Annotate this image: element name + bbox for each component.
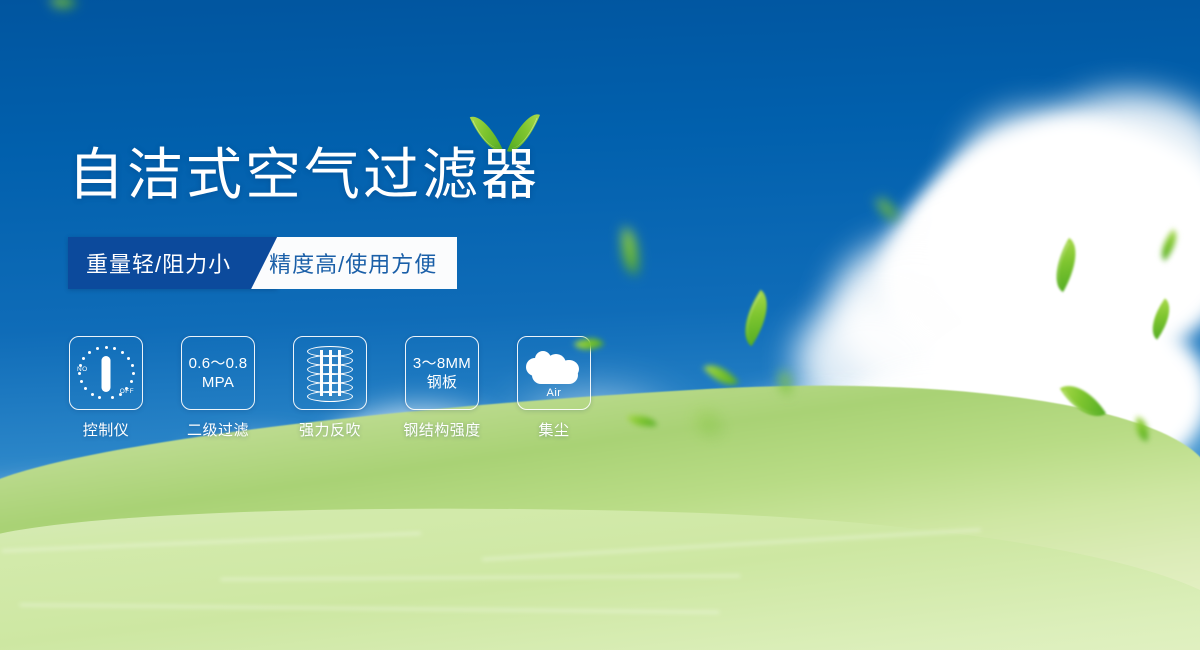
promo-banner: 自洁式空气过滤器 重量轻/阻力小 精度高/使用方便 <box>0 0 1200 650</box>
cloud-puff <box>960 110 1110 230</box>
leaf-floating <box>732 290 781 347</box>
feature-label: 集尘 <box>538 419 569 440</box>
feature-item-blowback: 强力反吹 <box>292 336 368 440</box>
leaf-floating <box>1154 229 1184 261</box>
leaf-vein <box>1047 242 1085 288</box>
feature-item-pressure: 0.6～0.8 MPA 二级过滤 <box>180 336 256 440</box>
feature-label: 控制仪 <box>83 419 130 440</box>
cloud-puff <box>830 238 1000 388</box>
dial-off-label: OFF <box>120 388 134 395</box>
feature-icon-box <box>293 336 367 410</box>
dial-on-label: NO <box>77 366 88 373</box>
leaf-floating <box>617 227 643 275</box>
steel-value-line1: 3～8MM <box>413 354 471 373</box>
control-dial-icon: NO OFF <box>77 344 135 402</box>
subtitle-left: 重量轻/阻力小 <box>68 237 277 289</box>
cloud-puff <box>1030 92 1200 232</box>
airflow-stack-icon <box>307 346 353 400</box>
grass-streak <box>1 532 421 552</box>
leaf-floating <box>1143 298 1180 339</box>
page-title: 自洁式空气过滤器 <box>68 142 540 208</box>
air-cloud-icon <box>526 348 582 386</box>
subtitle-bar: 重量轻/阻力小 精度高/使用方便 <box>68 237 457 289</box>
subtitle-right: 精度高/使用方便 <box>251 237 457 289</box>
grass-streak <box>482 529 981 561</box>
feature-icon-box: NO OFF <box>69 336 143 410</box>
cloud-puff <box>920 148 1160 358</box>
feature-icon-box: 3～8MM 钢板 <box>405 336 479 410</box>
feature-label: 强力反吹 <box>299 419 361 440</box>
feature-list: NO OFF 控制仪 0.6～0.8 MPA 二级过滤 <box>68 336 592 440</box>
leaf-vein <box>735 294 777 342</box>
feature-item-dust: Air 集尘 <box>516 336 592 440</box>
feature-item-steel: 3～8MM 钢板 钢结构强度 <box>404 336 480 440</box>
dial-needle <box>102 356 111 392</box>
pressure-value-line2: MPA <box>202 373 234 392</box>
leaf-floating <box>876 194 898 223</box>
leaf-floating <box>1044 238 1088 292</box>
steel-value-line2: 钢板 <box>427 373 458 392</box>
feature-item-control: NO OFF 控制仪 <box>68 336 144 440</box>
cloud-puff <box>880 186 1070 366</box>
feature-icon-box: 0.6～0.8 MPA <box>181 336 255 410</box>
grass-streak <box>20 604 720 613</box>
feature-label: 钢结构强度 <box>403 419 481 440</box>
air-label: Air <box>547 387 562 399</box>
feature-label: 二级过滤 <box>187 419 249 440</box>
leaf-floating <box>50 0 77 14</box>
grass-streak <box>220 575 740 581</box>
pressure-value-line1: 0.6～0.8 <box>189 354 248 373</box>
